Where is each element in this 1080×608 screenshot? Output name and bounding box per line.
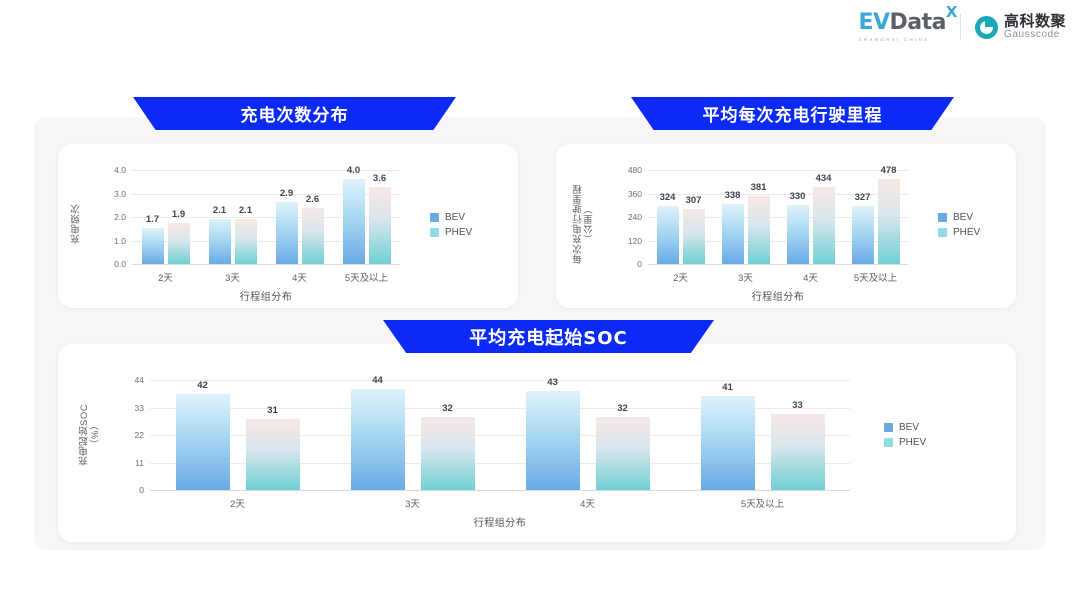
x-axis-tick-labels: 2天3天4天5天及以上 xyxy=(132,270,400,284)
bar-group: 330434 xyxy=(778,170,843,264)
evdata-logo: EVData X SHANGHAI CHINA xyxy=(858,12,946,42)
chart-legend: BEVPHEV xyxy=(884,422,926,448)
x-axis-tick-labels: 2天3天4天5天及以上 xyxy=(648,270,908,284)
legend-label-bev: BEV xyxy=(953,212,973,223)
bar-group: 327478 xyxy=(843,170,908,264)
y-axis-tick-label: 44 xyxy=(120,375,144,385)
bar-bev[interactable]: 1.7 xyxy=(142,228,164,264)
evdata-data-text: Data xyxy=(890,10,946,35)
bar-value-label: 2.9 xyxy=(280,188,293,199)
bar-value-label: 4.0 xyxy=(347,165,360,176)
legend-label-phev: PHEV xyxy=(899,437,926,448)
bar-group: 2.12.1 xyxy=(199,170,266,264)
x-axis-tick-label: 5天及以上 xyxy=(675,496,850,510)
bar-group: 2.92.6 xyxy=(266,170,333,264)
gausscode-text: 高科数聚 Gausscode xyxy=(1004,14,1066,40)
bar-value-label: 42 xyxy=(197,380,208,391)
bar-value-label: 2.6 xyxy=(306,194,319,205)
bar-bev[interactable]: 4.0 xyxy=(343,179,365,264)
bar-phev[interactable]: 33 xyxy=(771,414,825,490)
legend-swatch-phev xyxy=(884,438,893,447)
y-axis-tick-label: 33 xyxy=(120,403,144,413)
y-axis-tick-label: 2.0 xyxy=(102,212,126,222)
bar-value-label: 324 xyxy=(660,192,676,203)
x-axis-tick-label: 4天 xyxy=(778,270,843,284)
y-axis-tick-label: 3.0 xyxy=(102,189,126,199)
x-axis-tick-label: 3天 xyxy=(713,270,778,284)
bar-bev[interactable]: 44 xyxy=(351,389,405,490)
bar-series-container: 1.71.92.12.12.92.64.03.6 xyxy=(132,170,400,264)
bar-value-label: 307 xyxy=(686,195,702,206)
header-divider xyxy=(960,14,961,40)
y-axis-tick-label: 480 xyxy=(618,165,642,175)
y-axis-label: 充电起始SOC （%） xyxy=(80,386,102,484)
bar-group: 338381 xyxy=(713,170,778,264)
bar-value-label: 31 xyxy=(267,405,278,416)
bar-phev[interactable]: 3.6 xyxy=(369,187,391,264)
bar-group: 4432 xyxy=(325,380,500,490)
x-axis-tick-labels: 2天3天4天5天及以上 xyxy=(150,496,850,510)
bar-series-container: 4231443243324133 xyxy=(150,380,850,490)
bar-value-label: 32 xyxy=(617,403,628,414)
bar-phev[interactable]: 2.1 xyxy=(235,219,257,264)
x-axis-line xyxy=(132,264,400,265)
bar-group: 324307 xyxy=(648,170,713,264)
bar-phev[interactable]: 307 xyxy=(683,209,705,264)
x-axis-tick-label: 4天 xyxy=(266,270,333,284)
x-axis-tick-label: 5天及以上 xyxy=(843,270,908,284)
chart-legend: BEVPHEV xyxy=(938,212,980,238)
legend-item-bev[interactable]: BEV xyxy=(884,422,926,433)
gausscode-logo: 高科数聚 Gausscode xyxy=(975,14,1066,40)
legend-label-bev: BEV xyxy=(445,212,465,223)
bar-phev[interactable]: 1.9 xyxy=(168,223,190,264)
evdata-wordmark: EVData X xyxy=(858,12,946,34)
evdata-ev-text: EV xyxy=(858,10,889,35)
x-axis-tick-label: 2天 xyxy=(132,270,199,284)
bar-value-label: 41 xyxy=(722,382,733,393)
bar-value-label: 43 xyxy=(547,377,558,388)
legend-label-bev: BEV xyxy=(899,422,919,433)
gausscode-en-name: Gausscode xyxy=(1004,30,1066,41)
bar-value-label: 478 xyxy=(881,165,897,176)
plot-area-2: 每次充电行驶里程 （公里）012024036048032430733838133… xyxy=(556,144,1016,308)
y-axis-tick-label: 0 xyxy=(120,485,144,495)
bar-group: 4133 xyxy=(675,380,850,490)
chart-title-banner-2: 平均每次充电行驶里程 xyxy=(631,97,954,130)
bar-value-label: 338 xyxy=(725,190,741,201)
bar-phev[interactable]: 478 xyxy=(878,179,900,264)
legend-item-phev[interactable]: PHEV xyxy=(938,227,980,238)
legend-item-bev[interactable]: BEV xyxy=(430,212,472,223)
bar-group: 4231 xyxy=(150,380,325,490)
legend-swatch-phev xyxy=(938,228,947,237)
bar-group: 4.03.6 xyxy=(333,170,400,264)
legend-swatch-bev xyxy=(938,213,947,222)
bar-group: 4332 xyxy=(500,380,675,490)
bar-value-label: 44 xyxy=(372,375,383,386)
bar-value-label: 330 xyxy=(790,191,806,202)
bar-bev[interactable]: 338 xyxy=(722,204,744,264)
bar-bev[interactable]: 42 xyxy=(176,394,230,490)
legend-item-bev[interactable]: BEV xyxy=(938,212,980,223)
legend-swatch-phev xyxy=(430,228,439,237)
x-axis-label: 行程组分布 xyxy=(132,288,400,303)
legend-swatch-bev xyxy=(430,213,439,222)
bar-phev[interactable]: 32 xyxy=(421,417,475,490)
chart-legend: BEVPHEV xyxy=(430,212,472,238)
bar-phev[interactable]: 2.6 xyxy=(302,208,324,264)
y-axis-tick-label: 4.0 xyxy=(102,165,126,175)
x-axis-tick-label: 3天 xyxy=(325,496,500,510)
bar-bev[interactable]: 330 xyxy=(787,205,809,264)
bar-bev[interactable]: 324 xyxy=(657,206,679,264)
evdata-x-icon: X xyxy=(946,5,957,20)
bar-value-label: 381 xyxy=(751,182,767,193)
bar-phev[interactable]: 31 xyxy=(246,419,300,490)
gausscode-g-icon xyxy=(975,16,998,39)
x-axis-line xyxy=(648,264,908,265)
bar-phev[interactable]: 32 xyxy=(596,417,650,490)
legend-label-phev: PHEV xyxy=(445,227,472,238)
bar-value-label: 2.1 xyxy=(239,205,252,216)
bar-value-label: 434 xyxy=(816,173,832,184)
x-axis-label: 行程组分布 xyxy=(150,514,850,529)
y-axis-tick-label: 240 xyxy=(618,212,642,222)
y-axis-tick-label: 120 xyxy=(618,236,642,246)
y-axis-tick-label: 360 xyxy=(618,189,642,199)
x-axis-tick-label: 2天 xyxy=(648,270,713,284)
bar-bev[interactable]: 2.1 xyxy=(209,219,231,264)
y-axis-tick-label: 0.0 xyxy=(102,259,126,269)
brand-header: EVData X SHANGHAI CHINA 高科数聚 Gausscode xyxy=(858,12,1066,42)
bar-value-label: 33 xyxy=(792,400,803,411)
bar-bev[interactable]: 327 xyxy=(852,206,874,264)
bar-bev[interactable]: 41 xyxy=(701,396,755,490)
gausscode-cn-name: 高科数聚 xyxy=(1004,14,1066,30)
y-axis-tick-label: 22 xyxy=(120,430,144,440)
legend-label-phev: PHEV xyxy=(953,227,980,238)
plot-area-3: 充电起始SOC （%）01122334442314432433241332天3天… xyxy=(58,344,1016,542)
y-axis-tick-label: 11 xyxy=(120,458,144,468)
bar-bev[interactable]: 2.9 xyxy=(276,202,298,264)
x-axis-tick-label: 2天 xyxy=(150,496,325,510)
plot-area-1: 充电频次0.01.02.03.04.01.71.92.12.12.92.64.0… xyxy=(58,144,518,308)
y-axis-tick-label: 0 xyxy=(618,259,642,269)
bar-phev[interactable]: 434 xyxy=(813,187,835,264)
bar-value-label: 3.6 xyxy=(373,173,386,184)
x-axis-tick-label: 5天及以上 xyxy=(333,270,400,284)
x-axis-tick-label: 3天 xyxy=(199,270,266,284)
bar-group: 1.71.9 xyxy=(132,170,199,264)
chart-title-banner-3: 平均充电起始SOC xyxy=(383,320,714,353)
x-axis-line xyxy=(150,490,850,491)
legend-item-phev[interactable]: PHEV xyxy=(884,437,926,448)
y-axis-tick-label: 1.0 xyxy=(102,236,126,246)
bar-value-label: 2.1 xyxy=(213,205,226,216)
legend-swatch-bev xyxy=(884,423,893,432)
chart-title-banner-1: 充电次数分布 xyxy=(133,97,456,130)
bar-value-label: 1.9 xyxy=(172,209,185,220)
bar-bev[interactable]: 43 xyxy=(526,391,580,490)
bar-value-label: 1.7 xyxy=(146,214,159,225)
legend-item-phev[interactable]: PHEV xyxy=(430,227,472,238)
x-axis-label: 行程组分布 xyxy=(648,288,908,303)
bar-value-label: 327 xyxy=(855,192,871,203)
bar-phev[interactable]: 381 xyxy=(748,196,770,264)
evdata-subtitle: SHANGHAI CHINA xyxy=(858,37,929,42)
y-axis-label: 充电频次 xyxy=(72,188,83,260)
bar-value-label: 32 xyxy=(442,403,453,414)
bar-series-container: 324307338381330434327478 xyxy=(648,170,908,264)
x-axis-tick-label: 4天 xyxy=(500,496,675,510)
y-axis-label: 每次充电行驶里程 （公里） xyxy=(574,170,596,278)
